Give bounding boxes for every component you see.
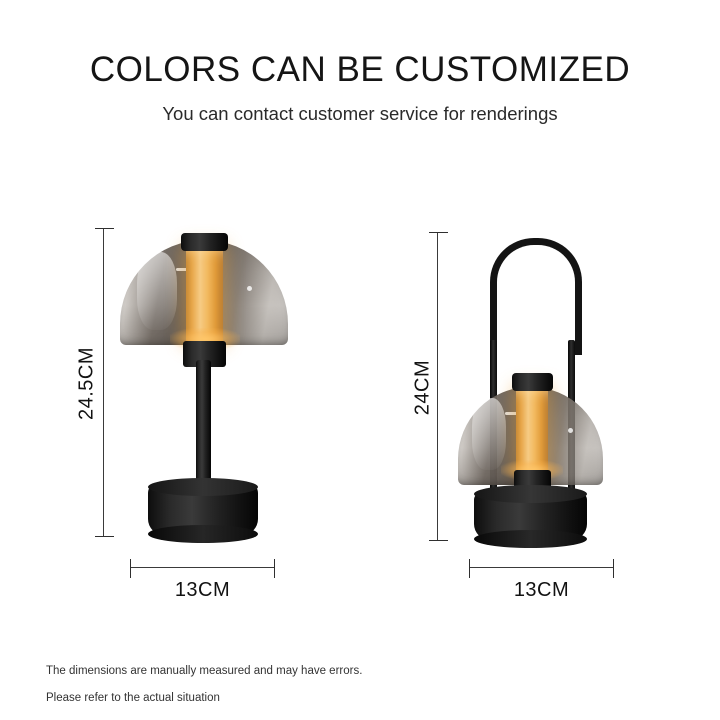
light-bulb (516, 388, 548, 473)
lamp-base-top-ellipse (474, 485, 587, 503)
carry-handle (490, 238, 582, 355)
dimension-label-height-right: 24CM (412, 343, 435, 433)
footnote-measurement-disclaimer: The dimensions are manually measured and… (46, 665, 362, 677)
dimension-label-width-right: 13CM (470, 579, 613, 602)
dimension-line-width-left (131, 567, 274, 568)
footnote-actual-situation: Please refer to the actual situation (46, 692, 220, 704)
dimension-line-height-left (103, 229, 104, 536)
lamp-base-bottom-ellipse (474, 530, 587, 548)
bulb-top-cap (181, 233, 228, 251)
dimension-line-height-right (437, 233, 438, 540)
product-dimension-diagram: COLORS CAN BE CUSTOMIZED You can contact… (0, 0, 720, 720)
page-subtitle: You can contact customer service for ren… (0, 103, 720, 125)
lamp-base-top-ellipse (148, 478, 258, 496)
bulb-top-cap (512, 373, 553, 391)
lamp-base-bottom-ellipse (148, 525, 258, 543)
lamp-stem (196, 360, 211, 492)
dimension-label-height-left: 24.5CM (76, 339, 99, 429)
dimension-label-width-left: 13CM (131, 579, 274, 602)
light-bulb (186, 247, 223, 343)
dimension-line-width-right (470, 567, 613, 568)
page-title: COLORS CAN BE CUSTOMIZED (0, 50, 720, 90)
